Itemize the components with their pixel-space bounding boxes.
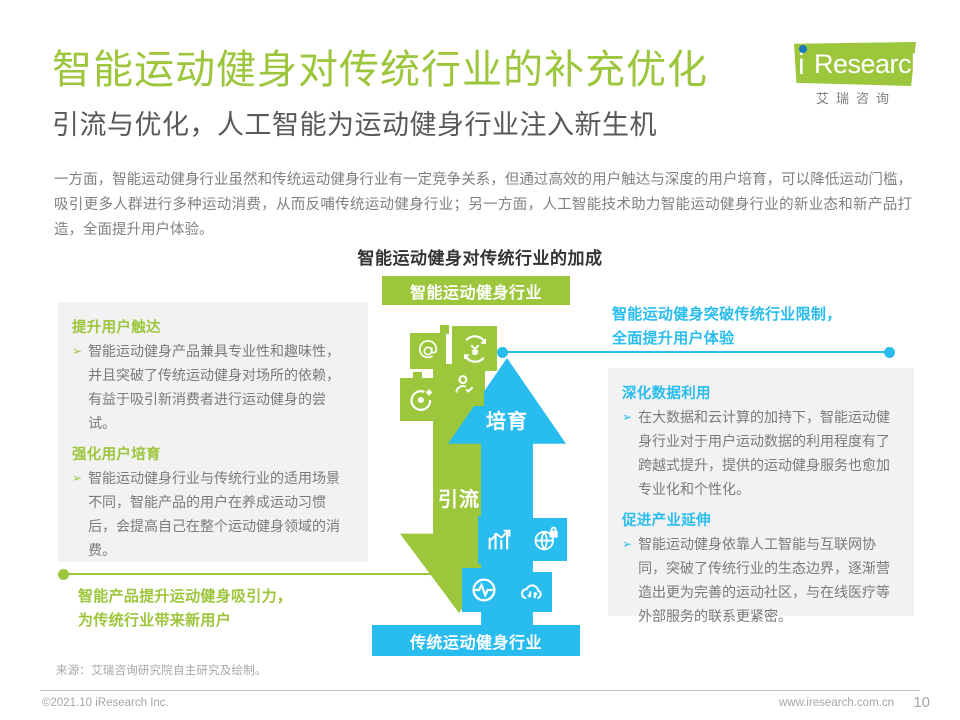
heart-rate-icon: [462, 568, 506, 612]
page-subtitle: 引流与优化，人工智能为运动健身行业注入新生机: [52, 108, 657, 142]
callout-right-line2: 全面提升用户体验: [612, 327, 912, 351]
arrow-up-label: 培育: [448, 405, 566, 434]
chip-blue-2: [498, 613, 507, 622]
panel-right-bullet-2: ➢ 智能运动健身依靠人工智能与互联网协同，突破了传统行业的生态边界，逐渐营造出更…: [622, 532, 898, 628]
bullet-marker-icon: ➢: [622, 532, 632, 628]
panel-right-heading-1: 深化数据利用: [622, 382, 898, 403]
source-note: 来源：艾瑞咨询研究院自主研究及绘制。: [56, 662, 267, 678]
chart-title: 智能运动健身对传统行业的加成: [0, 244, 960, 269]
logo-chinese-name: 艾瑞咨询: [796, 88, 916, 107]
callout-left-line2: 为传统行业带来新用户: [78, 609, 398, 633]
connector-line-blue: [502, 351, 890, 353]
footer-divider: [40, 690, 920, 691]
logo-wordmark: Research: [814, 49, 926, 79]
intro-paragraph: 一方面，智能运动健身行业虽然和传统运动健身行业有一定竞争关系，但通过高效的用户触…: [54, 168, 912, 243]
cloud-sync-icon: [512, 572, 552, 612]
logo-dot-icon: [799, 45, 807, 53]
footer-page-number: 10: [913, 694, 930, 711]
person-check-icon: [444, 364, 484, 406]
panel-left-heading-2: 强化用户培育: [72, 443, 352, 464]
panel-left: 提升用户触达 ➢ 智能运动健身产品兼具专业性和趣味性，并且突破了传统运动健身对场…: [58, 302, 368, 562]
bullet-marker-icon: ➢: [72, 339, 82, 435]
node-traditional-fitness-industry: 传统运动健身行业: [372, 625, 580, 656]
panel-left-heading-1: 提升用户触达: [72, 316, 352, 337]
callout-left-heading: 智能产品提升运动健身吸引力， 为传统行业带来新用户: [78, 585, 398, 633]
at-sign-icon: [410, 333, 446, 369]
panel-left-bullet-1: ➢ 智能运动健身产品兼具专业性和趣味性，并且突破了传统运动健身对场所的依赖，有益…: [72, 339, 352, 435]
slide-root: 智能运动健身对传统行业的补充优化 引流与优化，人工智能为运动健身行业注入新生机 …: [0, 0, 960, 720]
page-title: 智能运动健身对传统行业的补充优化: [52, 46, 708, 94]
panel-right-heading-2: 促进产业延伸: [622, 509, 898, 530]
arrow-down-label: 引流: [400, 483, 518, 512]
camera-plus-icon: [400, 378, 443, 421]
iresearch-logo: i Research 艾瑞咨询: [776, 36, 916, 108]
callout-right-line1: 智能运动健身突破传统行业限制，: [612, 303, 912, 327]
footer-website: www.iresearch.com.cn: [779, 697, 894, 709]
connector-dot-green-end: [444, 569, 455, 580]
node-smart-fitness-industry: 智能运动健身行业: [382, 276, 570, 305]
growth-chart-icon: [478, 516, 520, 564]
bullet-marker-icon: ➢: [72, 466, 82, 562]
panel-left-bullet-2: ➢ 智能运动健身行业与传统行业的适用场景不同，智能产品的用户在养成运动习惯后，会…: [72, 466, 352, 562]
logo-letter-i: i: [798, 50, 805, 80]
globe-lock-icon: [524, 518, 567, 561]
panel-right-bullet-2-text: 智能运动健身依靠人工智能与互联网协同，突破了传统行业的生态边界，逐渐营造出更为完…: [638, 532, 898, 628]
panel-right-bullet-1: ➢ 在大数据和云计算的加持下，智能运动健身行业对于用户运动数据的利用程度有了跨越…: [622, 405, 898, 501]
panel-right-bullet-1-text: 在大数据和云计算的加持下，智能运动健身行业对于用户运动数据的利用程度有了跨越式提…: [638, 405, 898, 501]
connector-line-green: [63, 573, 449, 575]
callout-right-heading: 智能运动健身突破传统行业限制， 全面提升用户体验: [612, 303, 912, 351]
callout-left-line1: 智能产品提升运动健身吸引力，: [78, 585, 398, 609]
footer-copyright: ©2021.10 iResearch Inc.: [42, 697, 169, 709]
panel-left-bullet-1-text: 智能运动健身产品兼具专业性和趣味性，并且突破了传统运动健身对场所的依赖，有益于吸…: [88, 339, 352, 435]
bullet-marker-icon: ➢: [622, 405, 632, 501]
panel-right: 深化数据利用 ➢ 在大数据和云计算的加持下，智能运动健身行业对于用户运动数据的利…: [608, 368, 914, 616]
panel-left-bullet-2-text: 智能运动健身行业与传统行业的适用场景不同，智能产品的用户在养成运动习惯后，会提高…: [88, 466, 352, 562]
